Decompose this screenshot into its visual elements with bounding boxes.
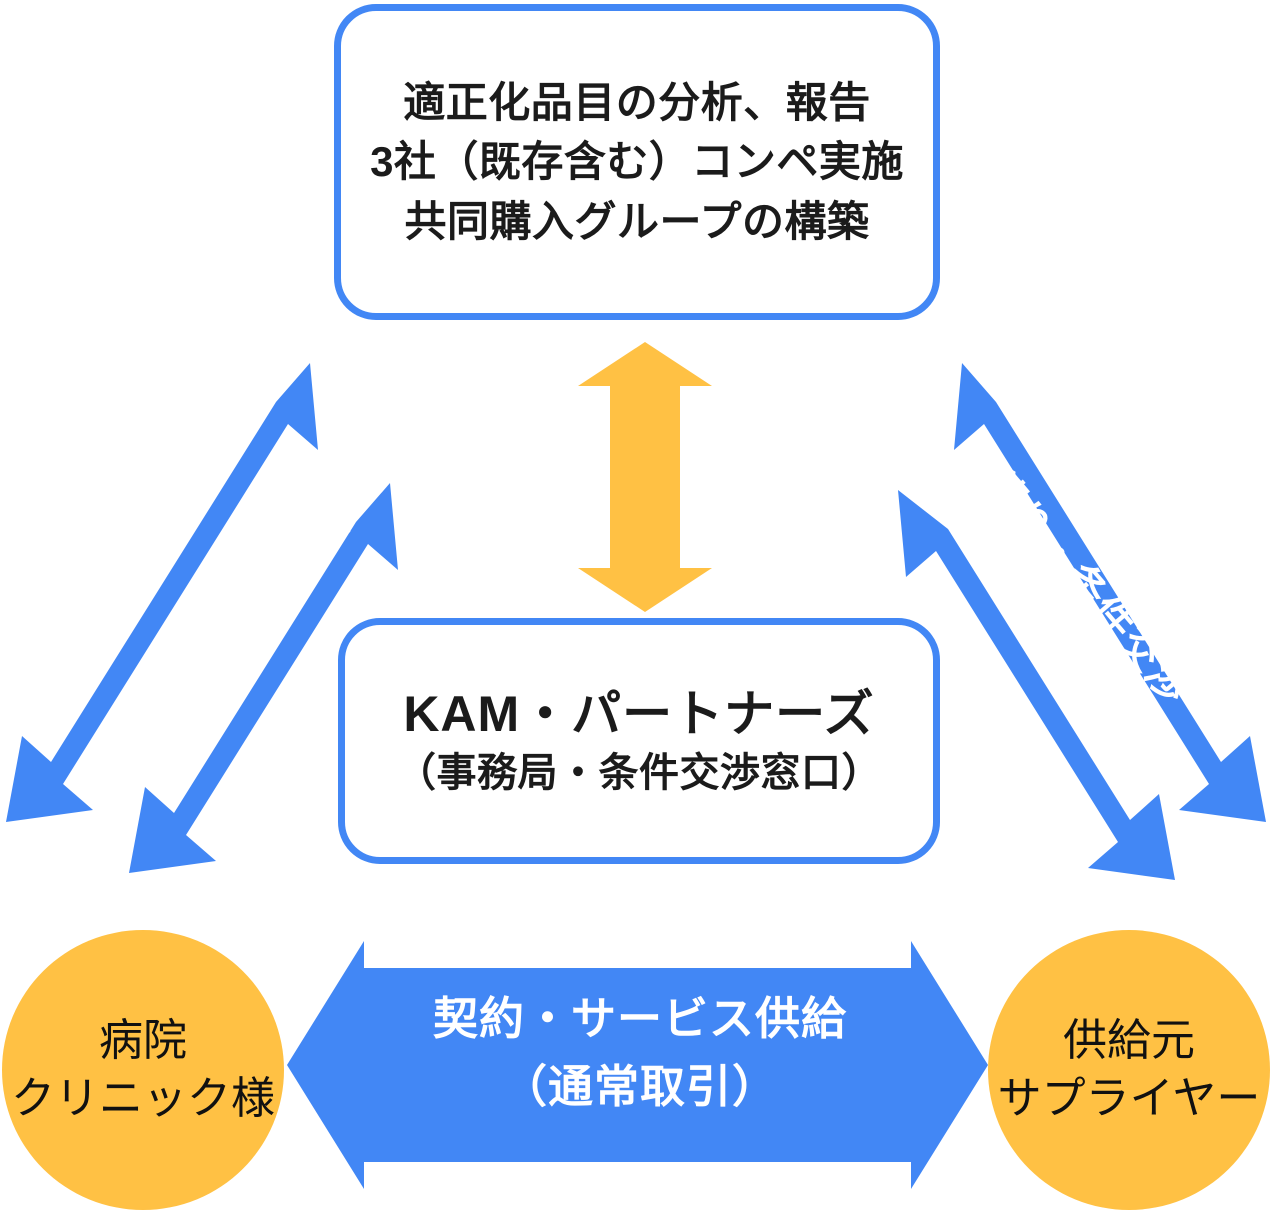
diagram-canvas: 適正化品目の分析、報告 3社（既存含む）コンペ実施 共同購入グループの構築 KA…: [0, 0, 1272, 1212]
circle-supplier-source: 供給元 サプライヤー: [988, 930, 1270, 1210]
circle-hospital-clinic: 病院 クリニック様: [2, 930, 284, 1210]
arrow-bottom-horizontal: [287, 941, 988, 1189]
center-kam-partners-box: KAM・パートナーズ （事務局・条件交渉窓口）: [338, 618, 940, 864]
circle-left-line-2: クリニック様: [11, 1070, 275, 1128]
circle-left-line-1: 病院: [99, 1012, 187, 1070]
top-box-line-2: 3社（既存含む）コンペ実施: [370, 132, 904, 192]
center-box-title: KAM・パートナーズ: [403, 684, 874, 744]
top-services-box: 適正化品目の分析、報告 3社（既存含む）コンペ実施 共同購入グループの構築: [334, 4, 940, 320]
arrow-vertical-center: [578, 342, 712, 612]
arrow-left-outer: [6, 363, 318, 822]
center-box-subtitle: （事務局・条件交渉窓口）: [396, 748, 882, 798]
top-box-line-1: 適正化品目の分析、報告: [403, 73, 871, 133]
arrow-right-outer: [954, 363, 1266, 822]
circle-right-line-2: サプライヤー: [998, 1070, 1261, 1128]
top-box-line-3: 共同購入グループの構築: [405, 192, 870, 252]
circle-right-line-1: 供給元: [1063, 1012, 1195, 1070]
